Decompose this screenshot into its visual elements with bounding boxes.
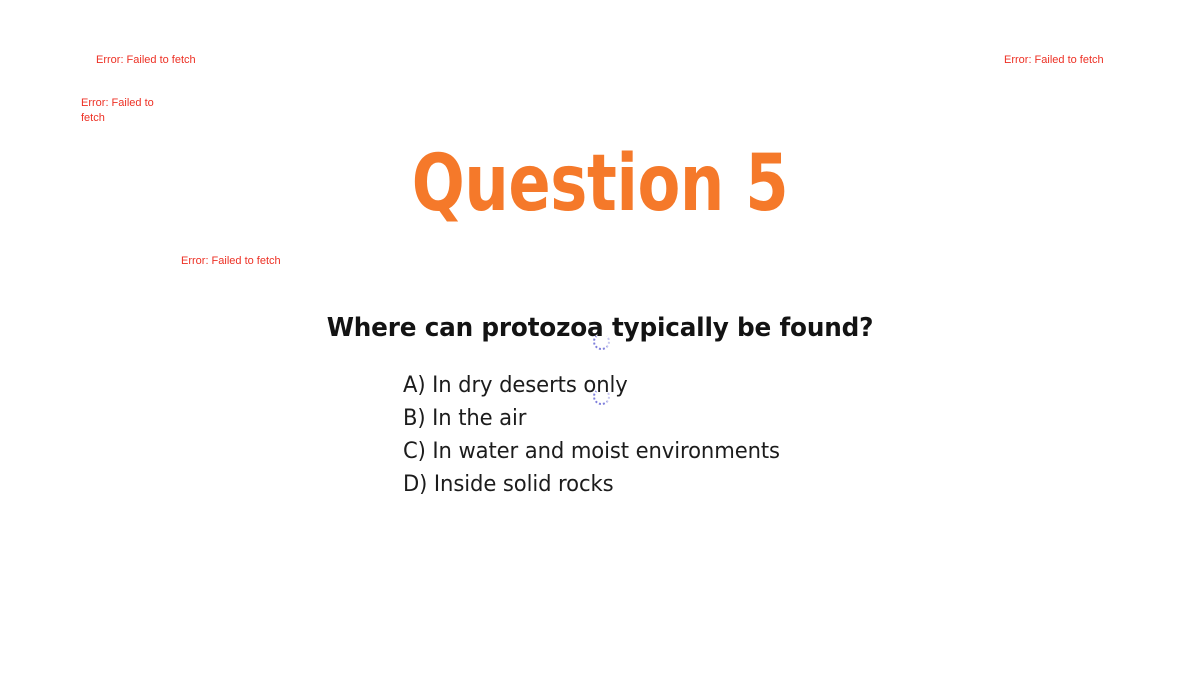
loading-spinner-icon-option-a xyxy=(593,388,610,405)
answer-options-list: A) In dry deserts only B) In the air C) … xyxy=(403,369,923,501)
answer-option-b[interactable]: B) In the air xyxy=(403,402,902,435)
error-toast-mid-left: Error: Failed to fetch xyxy=(81,96,159,126)
quiz-slide: Error: Failed to fetch Error: Failed to … xyxy=(0,0,1200,675)
loading-spinner-icon-question xyxy=(593,333,610,350)
error-toast-top-left: Error: Failed to fetch xyxy=(96,53,196,68)
page-title: Question 5 xyxy=(120,138,1080,230)
answer-option-c[interactable]: C) In water and moist environments xyxy=(403,435,902,468)
error-toast-lower-left: Error: Failed to fetch xyxy=(181,254,281,269)
answer-option-d[interactable]: D) Inside solid rocks xyxy=(403,468,902,501)
error-toast-top-right: Error: Failed to fetch xyxy=(1004,53,1104,68)
answer-option-a[interactable]: A) In dry deserts only xyxy=(403,369,902,402)
